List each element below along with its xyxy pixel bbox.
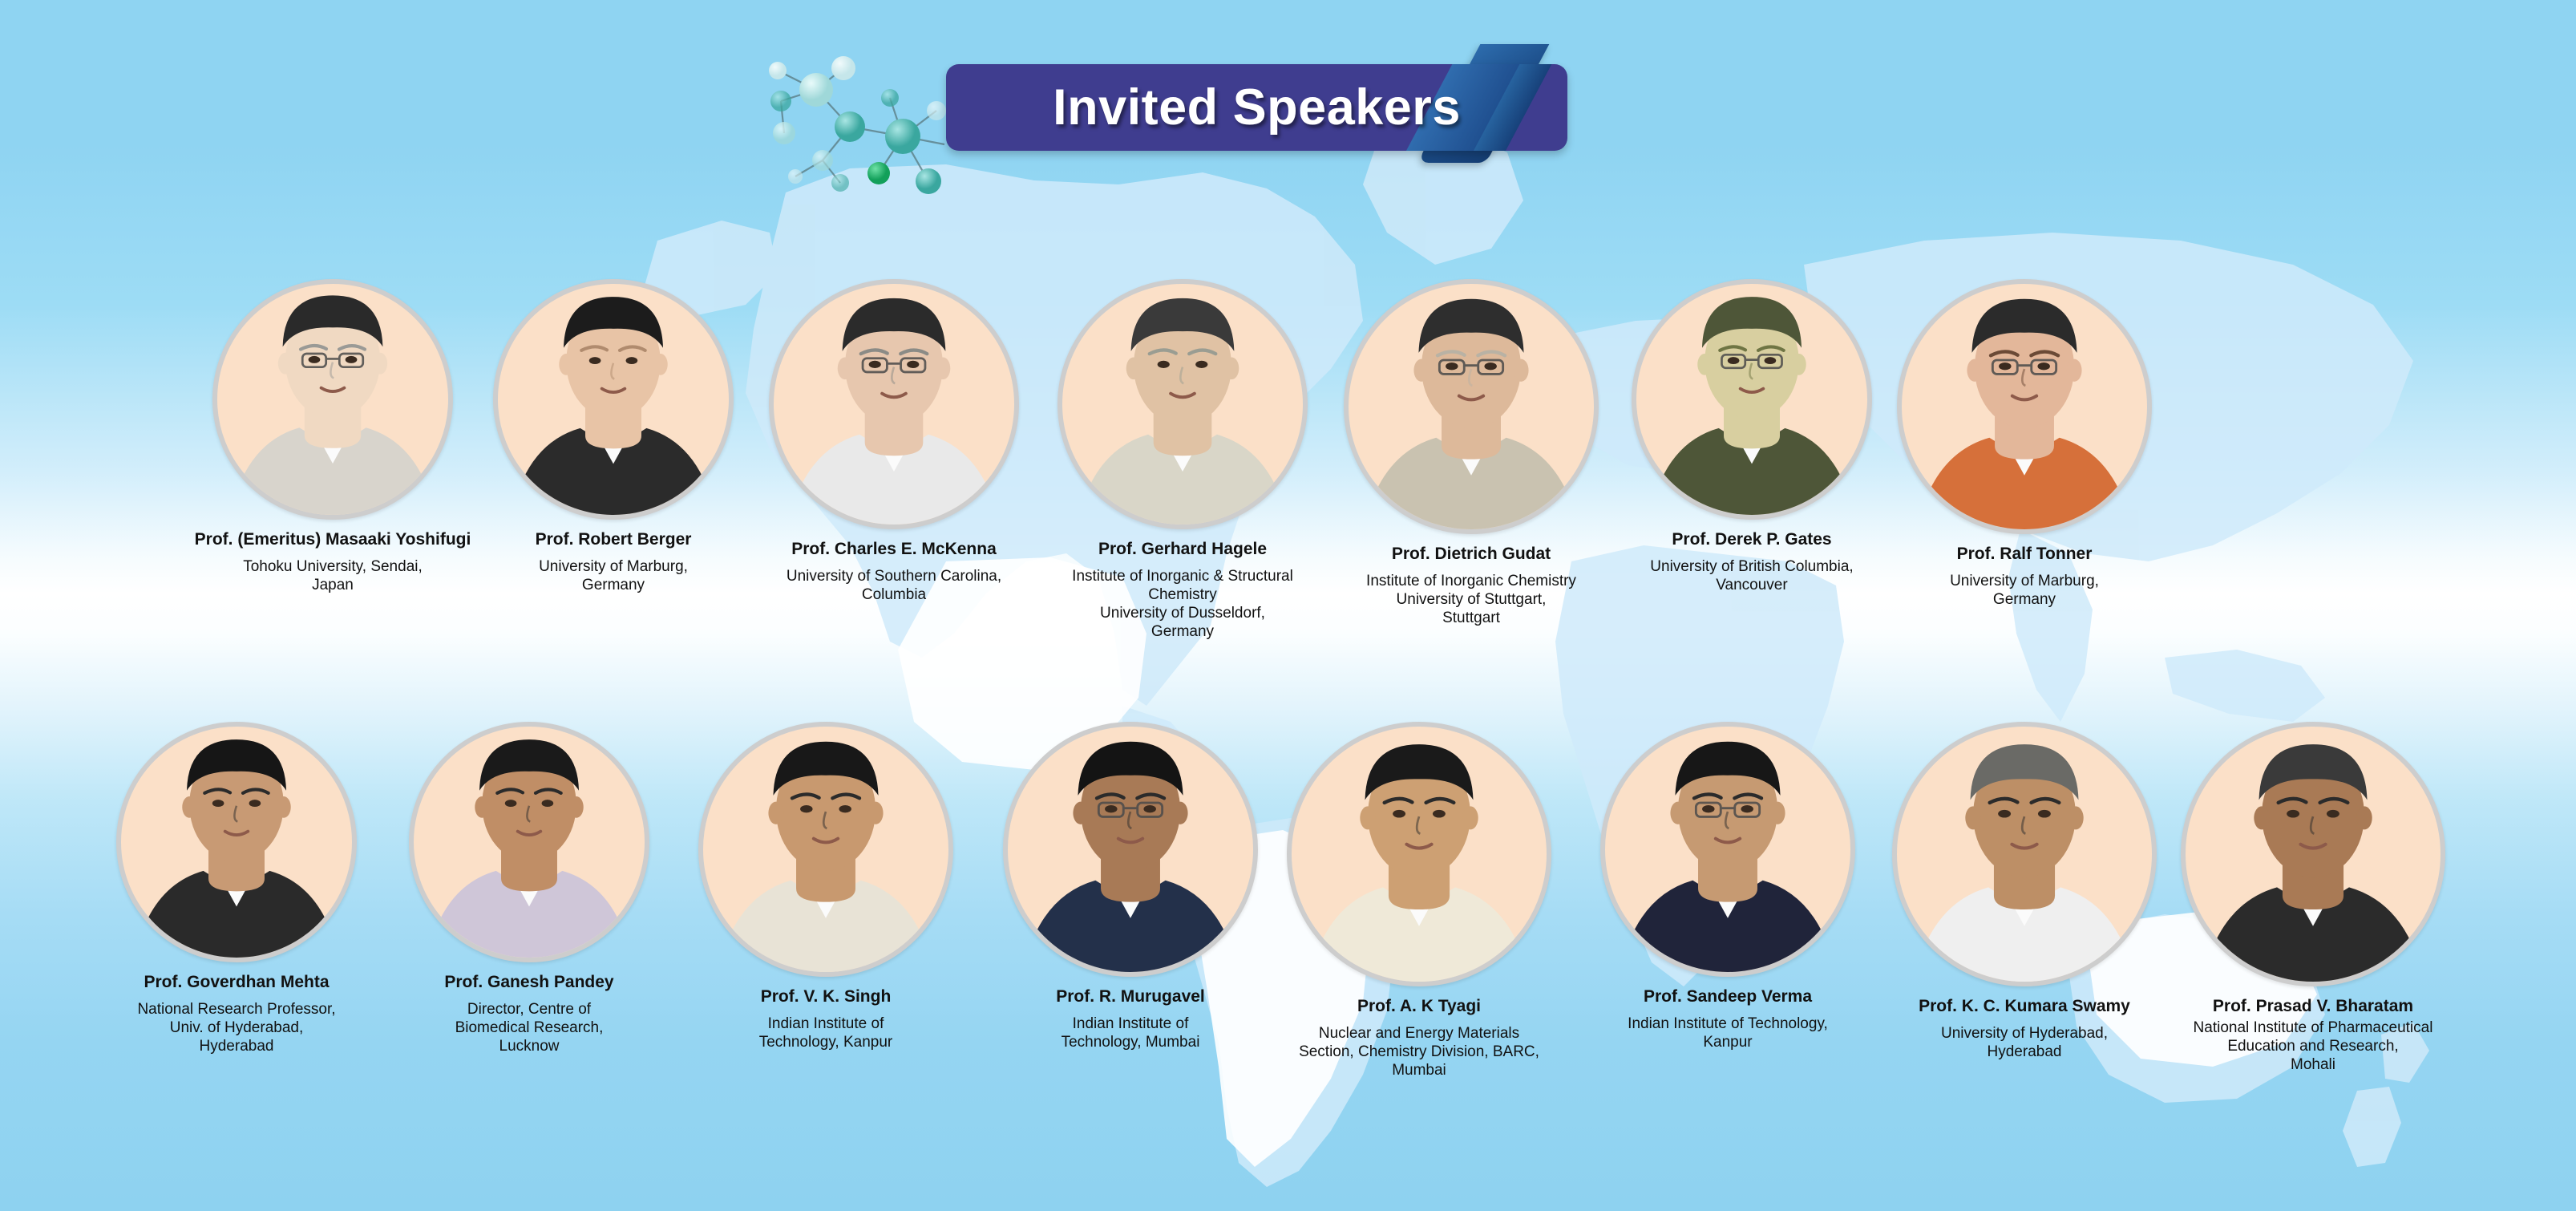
- page-title: Invited Speakers: [946, 64, 1567, 151]
- speaker-name: Prof. Ralf Tonner: [1888, 544, 2161, 565]
- speaker-affiliation: University of Marburg, Germany: [1888, 572, 2161, 609]
- speaker-card: Prof. Prasad V. Bharatam National Instit…: [2177, 722, 2449, 1074]
- speaker-name: Prof. Sandeep Verma: [1591, 986, 1864, 1007]
- speaker-card: Prof. V. K. Singh Indian Institute of Te…: [689, 722, 962, 1051]
- speaker-name: Prof. Prasad V. Bharatam: [2177, 996, 2449, 1017]
- speaker-caption: Prof. Prasad V. Bharatam National Instit…: [2177, 996, 2449, 1074]
- speaker-caption: Prof. Gerhard Hagele Institute of Inorga…: [1038, 539, 1327, 641]
- speaker-caption: Prof. Sandeep Verma Indian Institute of …: [1591, 986, 1864, 1051]
- speaker-caption: Prof. Ralf Tonner University of Marburg,…: [1888, 544, 2161, 609]
- speaker-card: Prof. Robert Berger University of Marbur…: [477, 279, 750, 594]
- portrait-prasad-bharatam: [2181, 722, 2445, 986]
- speaker-card: Prof. (Emeritus) Masaaki Yoshifugi Tohok…: [188, 279, 477, 594]
- speaker-card: Prof. Goverdhan Mehta National Research …: [100, 722, 373, 1055]
- speaker-name: Prof. Gerhard Hagele: [1038, 539, 1327, 560]
- speaker-name: Prof. Goverdhan Mehta: [100, 972, 373, 993]
- portrait-masaaki-yoshifugi: [212, 279, 453, 520]
- speaker-caption: Prof. Goverdhan Mehta National Research …: [100, 972, 373, 1055]
- speaker-caption: Prof. Charles E. McKenna University of S…: [750, 539, 1038, 604]
- portrait-ganesh-pandey: [409, 722, 649, 962]
- speaker-caption: Prof. K. C. Kumara Swamy University of H…: [1888, 996, 2161, 1061]
- speaker-affiliation: Indian Institute of Technology, Kanpur: [689, 1015, 962, 1051]
- speaker-card: Prof. Derek P. Gates University of Briti…: [1616, 279, 1888, 594]
- speaker-name: Prof. (Emeritus) Masaaki Yoshifugi: [188, 529, 477, 550]
- speaker-caption: Prof. Dietrich Gudat Institute of Inorga…: [1327, 544, 1616, 627]
- portrait-dietrich-gudat: [1344, 279, 1599, 534]
- speaker-card: Prof. Charles E. McKenna University of S…: [750, 279, 1038, 604]
- speaker-card: Prof. Dietrich Gudat Institute of Inorga…: [1327, 279, 1616, 627]
- speaker-caption: Prof. Derek P. Gates University of Briti…: [1616, 529, 1888, 594]
- portrait-derek-gates: [1632, 279, 1872, 520]
- speaker-card: Prof. A. K Tyagi Nuclear and Energy Mate…: [1283, 722, 1555, 1079]
- molecule-graphic: [746, 24, 954, 225]
- portrait-k-c-kumara-swamy: [1892, 722, 2157, 986]
- speaker-card: Prof. Ralf Tonner University of Marburg,…: [1888, 279, 2161, 609]
- speaker-name: Prof. Ganesh Pandey: [397, 972, 661, 993]
- speaker-affiliation: Institute of Inorganic & Structural Chem…: [1038, 567, 1327, 642]
- portrait-r-murugavel: [1003, 722, 1258, 977]
- speaker-affiliation: University of Marburg, Germany: [477, 557, 750, 594]
- speaker-card: Prof. K. C. Kumara Swamy University of H…: [1888, 722, 2161, 1061]
- speaker-affiliation: Indian Institute of Technology, Mumbai: [994, 1015, 1267, 1051]
- speaker-caption: Prof. Robert Berger University of Marbur…: [477, 529, 750, 594]
- speaker-affiliation: Nuclear and Energy Materials Section, Ch…: [1283, 1024, 1555, 1080]
- speaker-affiliation: Institute of Inorganic Chemistry Univers…: [1327, 572, 1616, 628]
- speaker-card: Prof. Ganesh Pandey Director, Centre of …: [397, 722, 661, 1055]
- portrait-sandeep-verma: [1600, 722, 1855, 977]
- speaker-name: Prof. A. K Tyagi: [1283, 996, 1555, 1017]
- speaker-caption: Prof. (Emeritus) Masaaki Yoshifugi Tohok…: [188, 529, 477, 594]
- speaker-name: Prof. R. Murugavel: [994, 986, 1267, 1007]
- speaker-affiliation: University of Southern Carolina, Columbi…: [750, 567, 1038, 604]
- speaker-card: Prof. R. Murugavel Indian Institute of T…: [994, 722, 1267, 1051]
- speaker-affiliation: University of British Columbia, Vancouve…: [1616, 557, 1888, 594]
- speaker-affiliation: Director, Centre of Biomedical Research,…: [397, 1000, 661, 1056]
- speaker-card: Prof. Gerhard Hagele Institute of Inorga…: [1038, 279, 1327, 641]
- speaker-affiliation: Tohoku University, Sendai, Japan: [188, 557, 477, 594]
- speaker-affiliation: National Research Professor, Univ. of Hy…: [100, 1000, 373, 1056]
- speaker-name: Prof. V. K. Singh: [689, 986, 962, 1007]
- speaker-card: Prof. Sandeep Verma Indian Institute of …: [1591, 722, 1864, 1051]
- speaker-affiliation: National Institute of Pharmaceutical Edu…: [2177, 1019, 2449, 1075]
- portrait-ralf-tonner: [1897, 279, 2152, 534]
- invited-speakers-poster: Invited Speakers: [0, 0, 2576, 1211]
- speaker-name: Prof. Charles E. McKenna: [750, 539, 1038, 560]
- portrait-charles-mckenna: [769, 279, 1019, 529]
- speaker-caption: Prof. V. K. Singh Indian Institute of Te…: [689, 986, 962, 1051]
- portrait-goverdhan-mehta: [116, 722, 357, 962]
- speaker-name: Prof. K. C. Kumara Swamy: [1888, 996, 2161, 1017]
- portrait-a-k-tyagi: [1287, 722, 1551, 986]
- speaker-caption: Prof. A. K Tyagi Nuclear and Energy Mate…: [1283, 996, 1555, 1079]
- speaker-caption: Prof. R. Murugavel Indian Institute of T…: [994, 986, 1267, 1051]
- speaker-name: Prof. Dietrich Gudat: [1327, 544, 1616, 565]
- portrait-robert-berger: [493, 279, 734, 520]
- speaker-affiliation: University of Hyderabad, Hyderabad: [1888, 1024, 2161, 1061]
- speaker-name: Prof. Robert Berger: [477, 529, 750, 550]
- speaker-caption: Prof. Ganesh Pandey Director, Centre of …: [397, 972, 661, 1055]
- invited-speakers-banner: Invited Speakers: [946, 64, 1567, 151]
- portrait-v-k-singh: [698, 722, 953, 977]
- portrait-gerhard-hagele: [1057, 279, 1308, 529]
- speaker-affiliation: Indian Institute of Technology, Kanpur: [1591, 1015, 1864, 1051]
- speaker-name: Prof. Derek P. Gates: [1616, 529, 1888, 550]
